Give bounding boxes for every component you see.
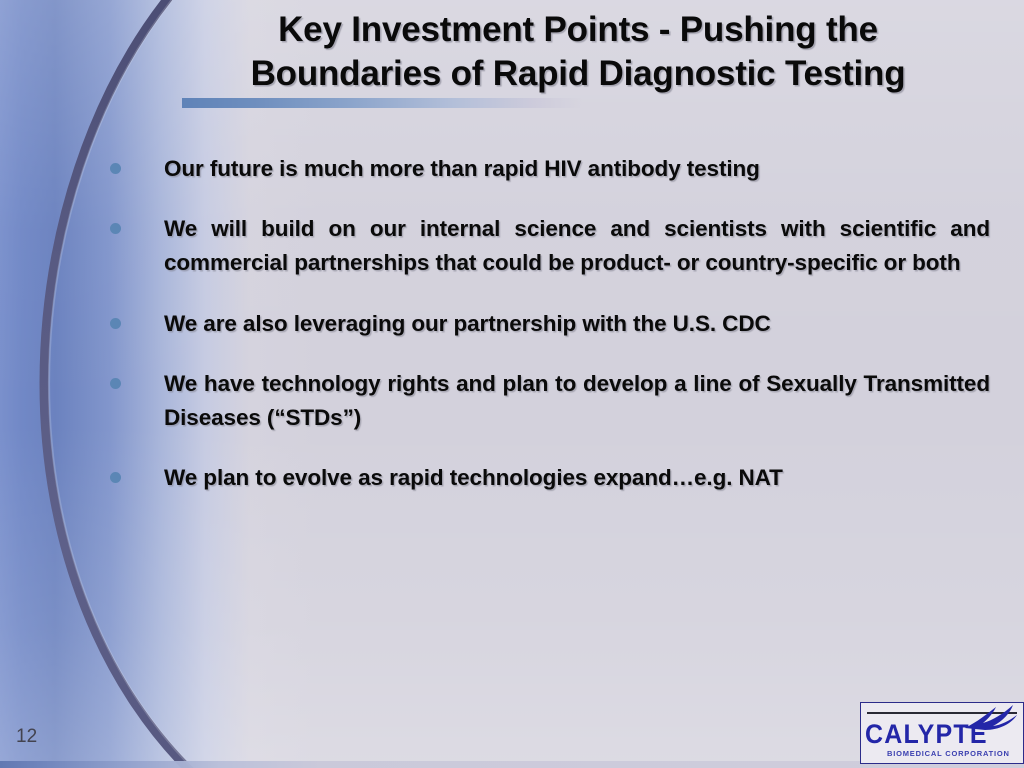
slide-title: Key Investment Points - Pushing the Boun… <box>168 8 988 96</box>
title-line-2: Boundaries of Rapid Diagnostic Testing <box>168 52 988 96</box>
list-item: We are also leveraging our partnership w… <box>110 307 990 341</box>
bullet-text: We are also leveraging our partnership w… <box>164 307 990 341</box>
title-line-1: Key Investment Points - Pushing the <box>168 8 988 52</box>
logo-tagline: BIOMEDICAL CORPORATION <box>887 749 1010 758</box>
bullet-dot-icon <box>110 472 121 483</box>
bullet-dot-icon <box>110 163 121 174</box>
bullet-dot-icon <box>110 223 121 234</box>
presentation-slide: Key Investment Points - Pushing the Boun… <box>0 0 1024 768</box>
list-item: We will build on our internal science an… <box>110 212 990 280</box>
company-logo: CALYPTE BIOMEDICAL CORPORATION <box>860 702 1024 764</box>
list-item: Our future is much more than rapid HIV a… <box>110 152 990 186</box>
bullet-text: We have technology rights and plan to de… <box>164 367 990 435</box>
title-underline-bar <box>182 98 582 108</box>
slide-number: 12 <box>16 726 37 748</box>
list-item: We plan to evolve as rapid technologies … <box>110 461 990 495</box>
bullet-text: Our future is much more than rapid HIV a… <box>164 152 990 186</box>
bullet-text: We plan to evolve as rapid technologies … <box>164 461 990 495</box>
list-item: We have technology rights and plan to de… <box>110 367 990 435</box>
bullet-dot-icon <box>110 318 121 329</box>
logo-wordmark: CALYPTE <box>865 719 988 750</box>
bullet-text: We will build on our internal science an… <box>164 212 990 280</box>
bullet-list: Our future is much more than rapid HIV a… <box>110 152 990 521</box>
bullet-dot-icon <box>110 378 121 389</box>
